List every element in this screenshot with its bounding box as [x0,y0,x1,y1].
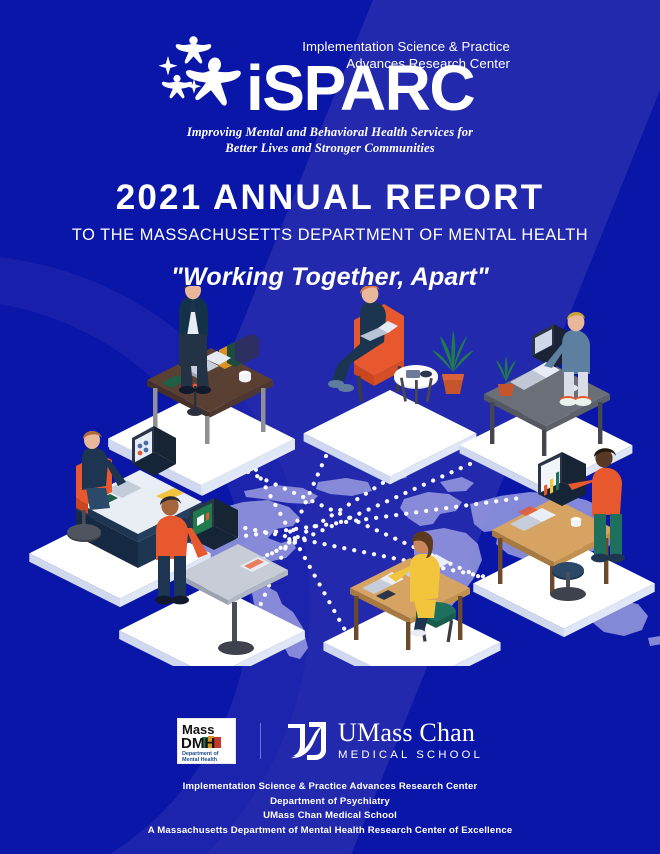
title-block: 2021 ANNUAL REPORT TO THE MASSACHUSETTS … [0,180,660,291]
report-cover: Implementation Science & Practice Advanc… [0,0,660,854]
umass-chan-mark-icon [285,720,329,762]
dmh-logo-line-4: Mental Health [182,757,217,763]
footer-line-3: UMass Chan Medical School [0,809,660,824]
isparc-tagline-line-2: Better Lives and Stronger Communities [187,140,473,156]
isparc-wordmark: iSPARC [246,56,474,120]
mass-dmh-logo: Mass DMH Department of Mental Health [177,718,236,764]
illustration-svg [0,286,660,666]
footer-line-1: Implementation Science & Practice Advanc… [0,780,660,795]
illustration-remote-work-network [0,286,660,666]
report-subtitle: TO THE MASSACHUSETTS DEPARTMENT OF MENTA… [0,226,660,244]
footer-line-4: A Massachusetts Department of Mental Hea… [0,824,660,839]
isparc-tagline-line-1: Improving Mental and Behavioral Health S… [187,124,473,140]
logo-divider [260,723,261,759]
workstation-top-center [304,286,477,484]
footer-line-2: Department of Psychiatry [0,795,660,810]
umass-chan-wordmark: UMass Chan MEDICAL SCHOOL [338,720,483,761]
footer-text-block: Implementation Science & Practice Advanc… [0,780,660,838]
umass-chan-primary: UMass Chan [338,720,483,746]
isparc-logo-row: Implementation Science & Practice Advanc… [150,34,510,119]
isparc-tagline: Improving Mental and Behavioral Health S… [187,124,473,156]
umass-chan-secondary: MEDICAL SCHOOL [338,750,483,761]
umass-chan-logo: UMass Chan MEDICAL SCHOOL [285,720,483,762]
report-title: 2021 ANNUAL REPORT [0,180,660,217]
dmh-logo-line-2: DMH [181,735,215,752]
isparc-logo-block: Implementation Science & Practice Advanc… [0,34,660,156]
partner-logos-row: Mass DMH Department of Mental Health UMa… [0,718,660,764]
